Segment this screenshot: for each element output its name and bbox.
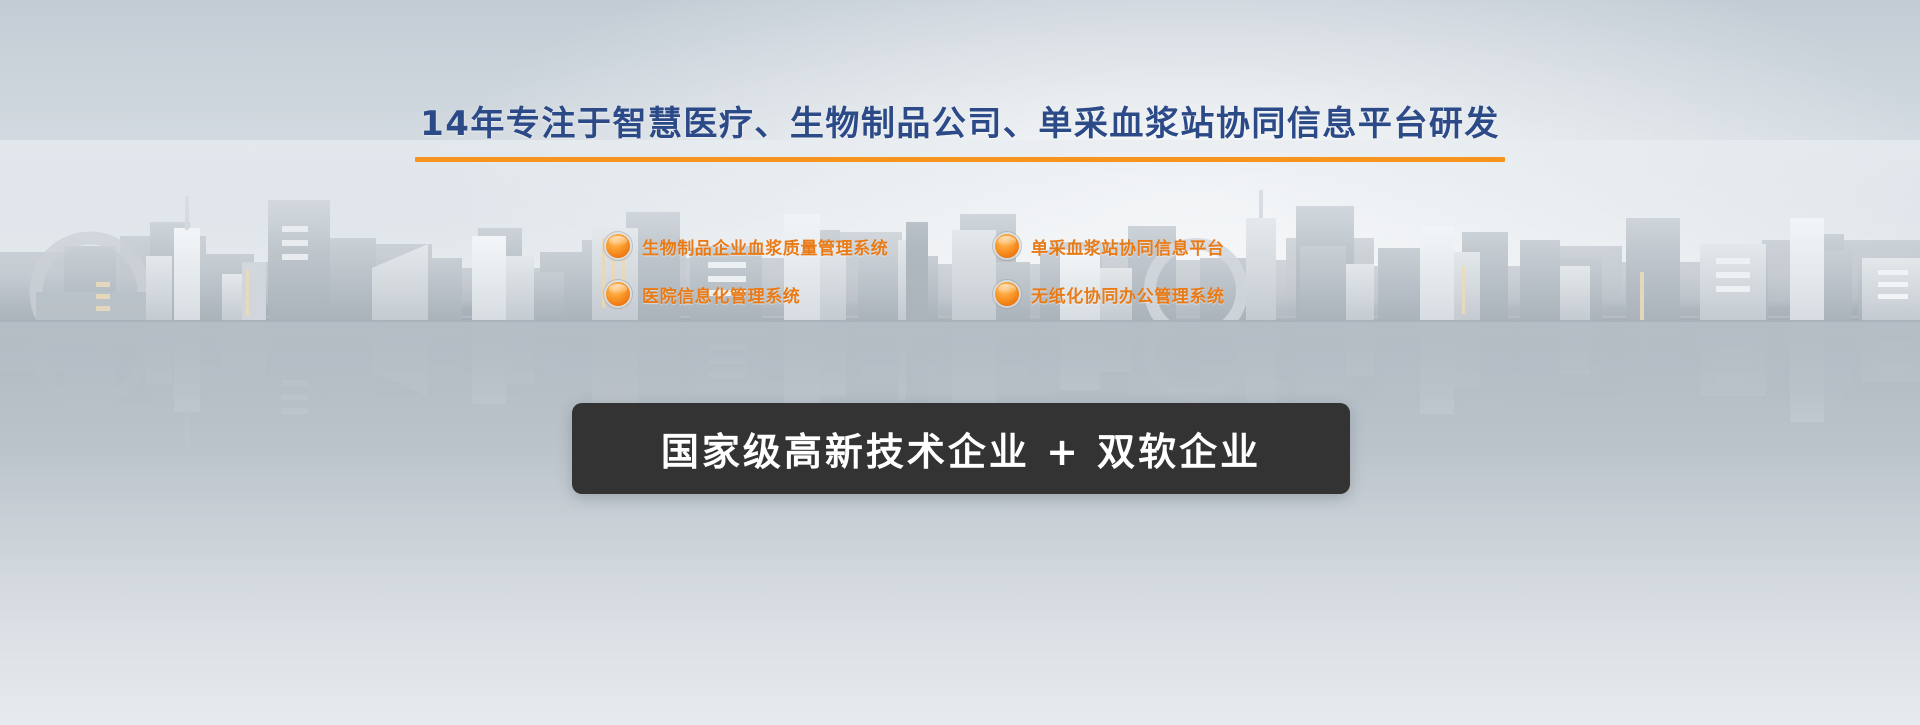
headline-block: 14年专注于智慧医疗、生物制品公司、单采血浆站协同信息平台研发 bbox=[0, 102, 1920, 162]
hero-banner: 14年专注于智慧医疗、生物制品公司、单采血浆站协同信息平台研发 生物制品企业血浆… bbox=[0, 0, 1920, 725]
feature-row-1: 生物制品企业血浆质量管理系统 单采血浆站协同信息平台 bbox=[606, 231, 1306, 261]
ground-plane bbox=[0, 320, 1920, 725]
orange-dot-icon bbox=[995, 234, 1019, 258]
feature-item-plasma-station[interactable]: 单采血浆站协同信息平台 bbox=[995, 231, 1306, 261]
feature-list: 生物制品企业血浆质量管理系统 单采血浆站协同信息平台 医院信息化管理系统 无纸化… bbox=[606, 231, 1306, 309]
orange-dot-icon bbox=[606, 234, 630, 258]
banner-headline: 14年专注于智慧医疗、生物制品公司、单采血浆站协同信息平台研发 bbox=[0, 102, 1920, 146]
feature-item-plasma-quality[interactable]: 生物制品企业血浆质量管理系统 bbox=[606, 231, 995, 261]
feature-label: 生物制品企业血浆质量管理系统 bbox=[642, 234, 888, 259]
feature-label: 单采血浆站协同信息平台 bbox=[1031, 234, 1225, 259]
horizon-line bbox=[0, 316, 1920, 320]
feature-row-2: 医院信息化管理系统 无纸化协同办公管理系统 bbox=[606, 279, 1306, 309]
feature-label: 医院信息化管理系统 bbox=[642, 282, 800, 307]
certification-plaque-text: 国家级高新技术企业 + 双软企业 bbox=[661, 421, 1261, 476]
feature-item-paperless-office[interactable]: 无纸化协同办公管理系统 bbox=[995, 279, 1306, 309]
certification-plaque: 国家级高新技术企业 + 双软企业 bbox=[572, 403, 1350, 494]
headline-underline-rule bbox=[415, 157, 1505, 162]
orange-dot-icon bbox=[995, 282, 1019, 306]
feature-item-hospital-info[interactable]: 医院信息化管理系统 bbox=[606, 279, 995, 309]
ring-landmark-left bbox=[36, 238, 146, 320]
feature-label: 无纸化协同办公管理系统 bbox=[1031, 282, 1225, 307]
orange-dot-icon bbox=[606, 282, 630, 306]
